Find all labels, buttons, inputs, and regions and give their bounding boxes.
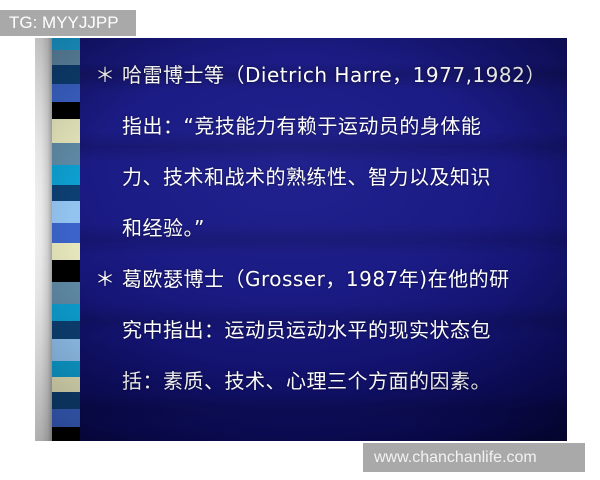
text-line: 葛欧瑟博士（Grosser，1987年)在他的研 (122, 267, 510, 291)
bullet-paragraph-2: ＊葛欧瑟博士（Grosser，1987年)在他的研 究中指出：运动员运动水平的现… (95, 254, 561, 407)
color-block (52, 361, 80, 376)
watermark-top-text: TG: MYYJJPP (9, 13, 119, 33)
color-block (52, 427, 80, 441)
bullet-line: ＊葛欧瑟博士（Grosser，1987年)在他的研 (95, 254, 561, 305)
watermark-bottom-right: www.chanchanlife.com (363, 443, 585, 472)
slide-body-text: ＊哈雷博士等（Dietrich Harre，1977,1982） 指出：“竞技能… (95, 50, 561, 407)
color-block (52, 50, 80, 65)
color-block (52, 201, 80, 223)
color-block (52, 65, 80, 84)
text-line: 究中指出：运动员运动水平的现实状态包 (95, 305, 561, 356)
color-block (52, 243, 80, 260)
asterisk-bullet-icon: ＊ (95, 254, 122, 305)
text-line: 哈雷博士等（Dietrich Harre，1977,1982） (122, 63, 546, 87)
color-block (52, 304, 80, 321)
bullet-paragraph-1: ＊哈雷博士等（Dietrich Harre，1977,1982） 指出：“竞技能… (95, 50, 561, 254)
text-line: 指出：“竞技能力有赖于运动员的身体能 (95, 101, 561, 152)
color-block (52, 339, 80, 361)
color-block (52, 165, 80, 185)
bullet-line: ＊哈雷博士等（Dietrich Harre，1977,1982） (95, 50, 561, 101)
watermark-bottom-text: www.chanchanlife.com (374, 449, 537, 467)
watermark-top-left: TG: MYYJJPP (0, 10, 136, 36)
color-block (52, 185, 80, 200)
asterisk-bullet-icon: ＊ (95, 50, 122, 101)
color-block (52, 392, 80, 409)
color-block (52, 409, 80, 428)
color-block (52, 282, 80, 304)
color-block (52, 377, 80, 392)
color-block (52, 38, 80, 50)
color-block (52, 143, 80, 165)
text-line: 和经验。” (95, 203, 561, 254)
presentation-slide: ＊哈雷博士等（Dietrich Harre，1977,1982） 指出：“竞技能… (35, 38, 567, 441)
decorative-color-strip (52, 38, 80, 441)
color-block (52, 119, 80, 143)
color-block (52, 260, 80, 282)
color-block (52, 321, 80, 340)
color-block (52, 84, 80, 103)
text-line: 力、技术和战术的熟练性、智力以及知识 (95, 152, 561, 203)
text-line: 括：素质、技术、心理三个方面的因素。 (95, 356, 561, 407)
slide-left-gradient-band (35, 38, 52, 441)
color-block (52, 102, 80, 119)
color-block (52, 223, 80, 243)
